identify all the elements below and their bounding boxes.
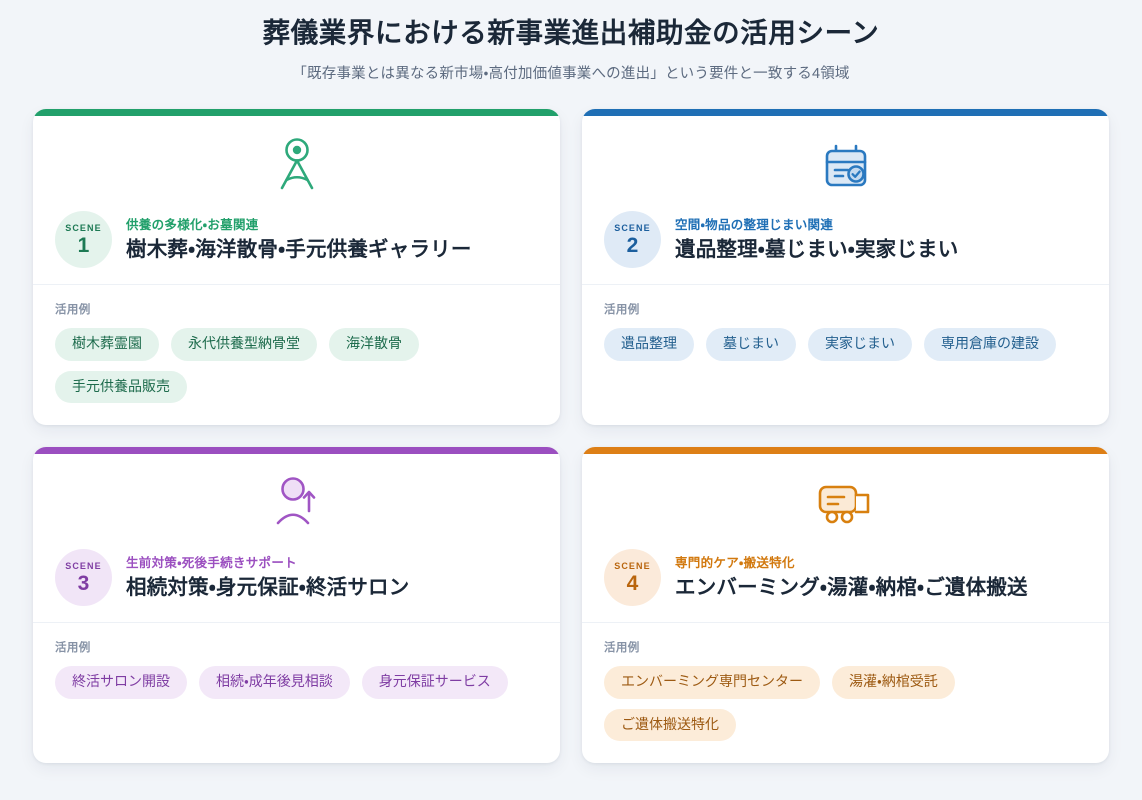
scene-card-grid: SCENE 1 供養の多様化・お墓関連 樹木葬・海洋散骨・手元供養ギャラリー 活… xyxy=(33,109,1109,763)
tag-item[interactable]: 身元保証サービス xyxy=(362,666,508,699)
card-examples: 活用例 エンバーミング専門センター 湯灌・納棺受託 ご遺体搬送特化 xyxy=(582,623,1109,763)
examples-label: 活用例 xyxy=(604,301,1087,317)
tag-item[interactable]: 樹木葬霊園 xyxy=(55,328,159,361)
tag-item[interactable]: 相続・成年後見相談 xyxy=(199,666,350,699)
card-eyebrow: 生前対策・死後手続きサポート xyxy=(126,555,409,571)
card-accent-bar xyxy=(582,447,1109,454)
card-header: SCENE 4 専門的ケア・搬送特化 エンバーミング・湯灌・納棺・ご遺体搬送 xyxy=(582,454,1109,623)
card-title: 遺品整理・墓じまい・実家じまい xyxy=(675,237,958,263)
tag-item[interactable]: ご遺体搬送特化 xyxy=(604,709,736,742)
scene-badge: SCENE 1 xyxy=(55,211,112,268)
card-text-block: 供養の多様化・お墓関連 樹木葬・海洋散骨・手元供養ギャラリー xyxy=(126,217,472,263)
card-examples: 活用例 遺品整理 墓じまい 実家じまい 専用倉庫の建設 xyxy=(582,285,1109,425)
scene-card-2[interactable]: SCENE 2 空間・物品の整理じまい関連 遺品整理・墓じまい・実家じまい 活用… xyxy=(582,109,1109,425)
card-accent-bar xyxy=(582,109,1109,116)
tag-item[interactable]: エンバーミング専門センター xyxy=(604,666,820,699)
scene-card-4[interactable]: SCENE 4 専門的ケア・搬送特化 エンバーミング・湯灌・納棺・ご遺体搬送 活… xyxy=(582,447,1109,763)
card-headline-row: SCENE 2 空間・物品の整理じまい関連 遺品整理・墓じまい・実家じまい xyxy=(604,211,1087,268)
card-header: SCENE 3 生前対策・死後手続きサポート 相続対策・身元保証・終活サロン xyxy=(33,454,560,623)
card-eyebrow: 供養の多様化・お墓関連 xyxy=(126,217,472,233)
card-examples: 活用例 樹木葬霊園 永代供養型納骨堂 海洋散骨 手元供養品販売 xyxy=(33,285,560,425)
scene-badge: SCENE 4 xyxy=(604,549,661,606)
examples-label: 活用例 xyxy=(55,639,538,655)
tag-item[interactable]: 墓じまい xyxy=(706,328,796,361)
card-headline-row: SCENE 4 専門的ケア・搬送特化 エンバーミング・湯灌・納棺・ご遺体搬送 xyxy=(604,549,1087,606)
memorial-tree-icon xyxy=(55,133,538,199)
tag-item[interactable]: 海洋散骨 xyxy=(329,328,419,361)
card-eyebrow: 空間・物品の整理じまい関連 xyxy=(675,217,958,233)
scene-number: 3 xyxy=(78,573,90,594)
scene-word: SCENE xyxy=(614,224,651,233)
tag-list: エンバーミング専門センター 湯灌・納棺受託 ご遺体搬送特化 xyxy=(604,666,1087,741)
card-text-block: 空間・物品の整理じまい関連 遺品整理・墓じまい・実家じまい xyxy=(675,217,958,263)
page-root: 葬儀業界における新事業進出補助金の活用シーン 「既存事業とは異なる新市場・高付加… xyxy=(0,0,1142,800)
scene-card-3[interactable]: SCENE 3 生前対策・死後手続きサポート 相続対策・身元保証・終活サロン 活… xyxy=(33,447,560,763)
card-accent-bar xyxy=(33,447,560,454)
scene-number: 1 xyxy=(78,235,90,256)
tag-item[interactable]: 湯灌・納棺受託 xyxy=(832,666,955,699)
examples-label: 活用例 xyxy=(604,639,1087,655)
tag-item[interactable]: 遺品整理 xyxy=(604,328,694,361)
card-text-block: 専門的ケア・搬送特化 エンバーミング・湯灌・納棺・ご遺体搬送 xyxy=(675,555,1028,601)
tag-list: 樹木葬霊園 永代供養型納骨堂 海洋散骨 手元供養品販売 xyxy=(55,328,538,403)
card-headline-row: SCENE 3 生前対策・死後手続きサポート 相続対策・身元保証・終活サロン xyxy=(55,549,538,606)
card-title: エンバーミング・湯灌・納棺・ご遺体搬送 xyxy=(675,575,1028,601)
scene-badge: SCENE 3 xyxy=(55,549,112,606)
card-text-block: 生前対策・死後手続きサポート 相続対策・身元保証・終活サロン xyxy=(126,555,409,601)
card-title: 樹木葬・海洋散骨・手元供養ギャラリー xyxy=(126,237,472,263)
scene-number: 2 xyxy=(627,235,639,256)
scene-word: SCENE xyxy=(614,562,651,571)
tag-item[interactable]: 専用倉庫の建設 xyxy=(924,328,1056,361)
scene-card-1[interactable]: SCENE 1 供養の多様化・お墓関連 樹木葬・海洋散骨・手元供養ギャラリー 活… xyxy=(33,109,560,425)
person-arrow-up-icon xyxy=(55,471,538,537)
page-title: 葬儀業界における新事業進出補助金の活用シーン xyxy=(33,14,1109,51)
delivery-truck-icon xyxy=(604,471,1087,537)
card-header: SCENE 1 供養の多様化・お墓関連 樹木葬・海洋散骨・手元供養ギャラリー xyxy=(33,116,560,285)
tag-list: 終活サロン開設 相続・成年後見相談 身元保証サービス xyxy=(55,666,538,699)
scene-word: SCENE xyxy=(65,562,102,571)
card-examples: 活用例 終活サロン開設 相続・成年後見相談 身元保証サービス xyxy=(33,623,560,763)
tag-list: 遺品整理 墓じまい 実家じまい 専用倉庫の建設 xyxy=(604,328,1087,361)
card-headline-row: SCENE 1 供養の多様化・お墓関連 樹木葬・海洋散骨・手元供養ギャラリー xyxy=(55,211,538,268)
card-header: SCENE 2 空間・物品の整理じまい関連 遺品整理・墓じまい・実家じまい xyxy=(582,116,1109,285)
page-subtitle: 「既存事業とは異なる新市場・高付加価値事業への進出」という要件と一致する4領域 xyxy=(33,64,1109,84)
tag-item[interactable]: 手元供養品販売 xyxy=(55,371,187,404)
examples-label: 活用例 xyxy=(55,301,538,317)
scene-number: 4 xyxy=(627,573,639,594)
tag-item[interactable]: 実家じまい xyxy=(808,328,912,361)
calendar-check-icon xyxy=(604,133,1087,199)
card-eyebrow: 専門的ケア・搬送特化 xyxy=(675,555,1028,571)
scene-badge: SCENE 2 xyxy=(604,211,661,268)
card-accent-bar xyxy=(33,109,560,116)
page-header: 葬儀業界における新事業進出補助金の活用シーン 「既存事業とは異なる新市場・高付加… xyxy=(33,0,1109,84)
tag-item[interactable]: 永代供養型納骨堂 xyxy=(171,328,317,361)
tag-item[interactable]: 終活サロン開設 xyxy=(55,666,187,699)
scene-word: SCENE xyxy=(65,224,102,233)
card-title: 相続対策・身元保証・終活サロン xyxy=(126,575,409,601)
